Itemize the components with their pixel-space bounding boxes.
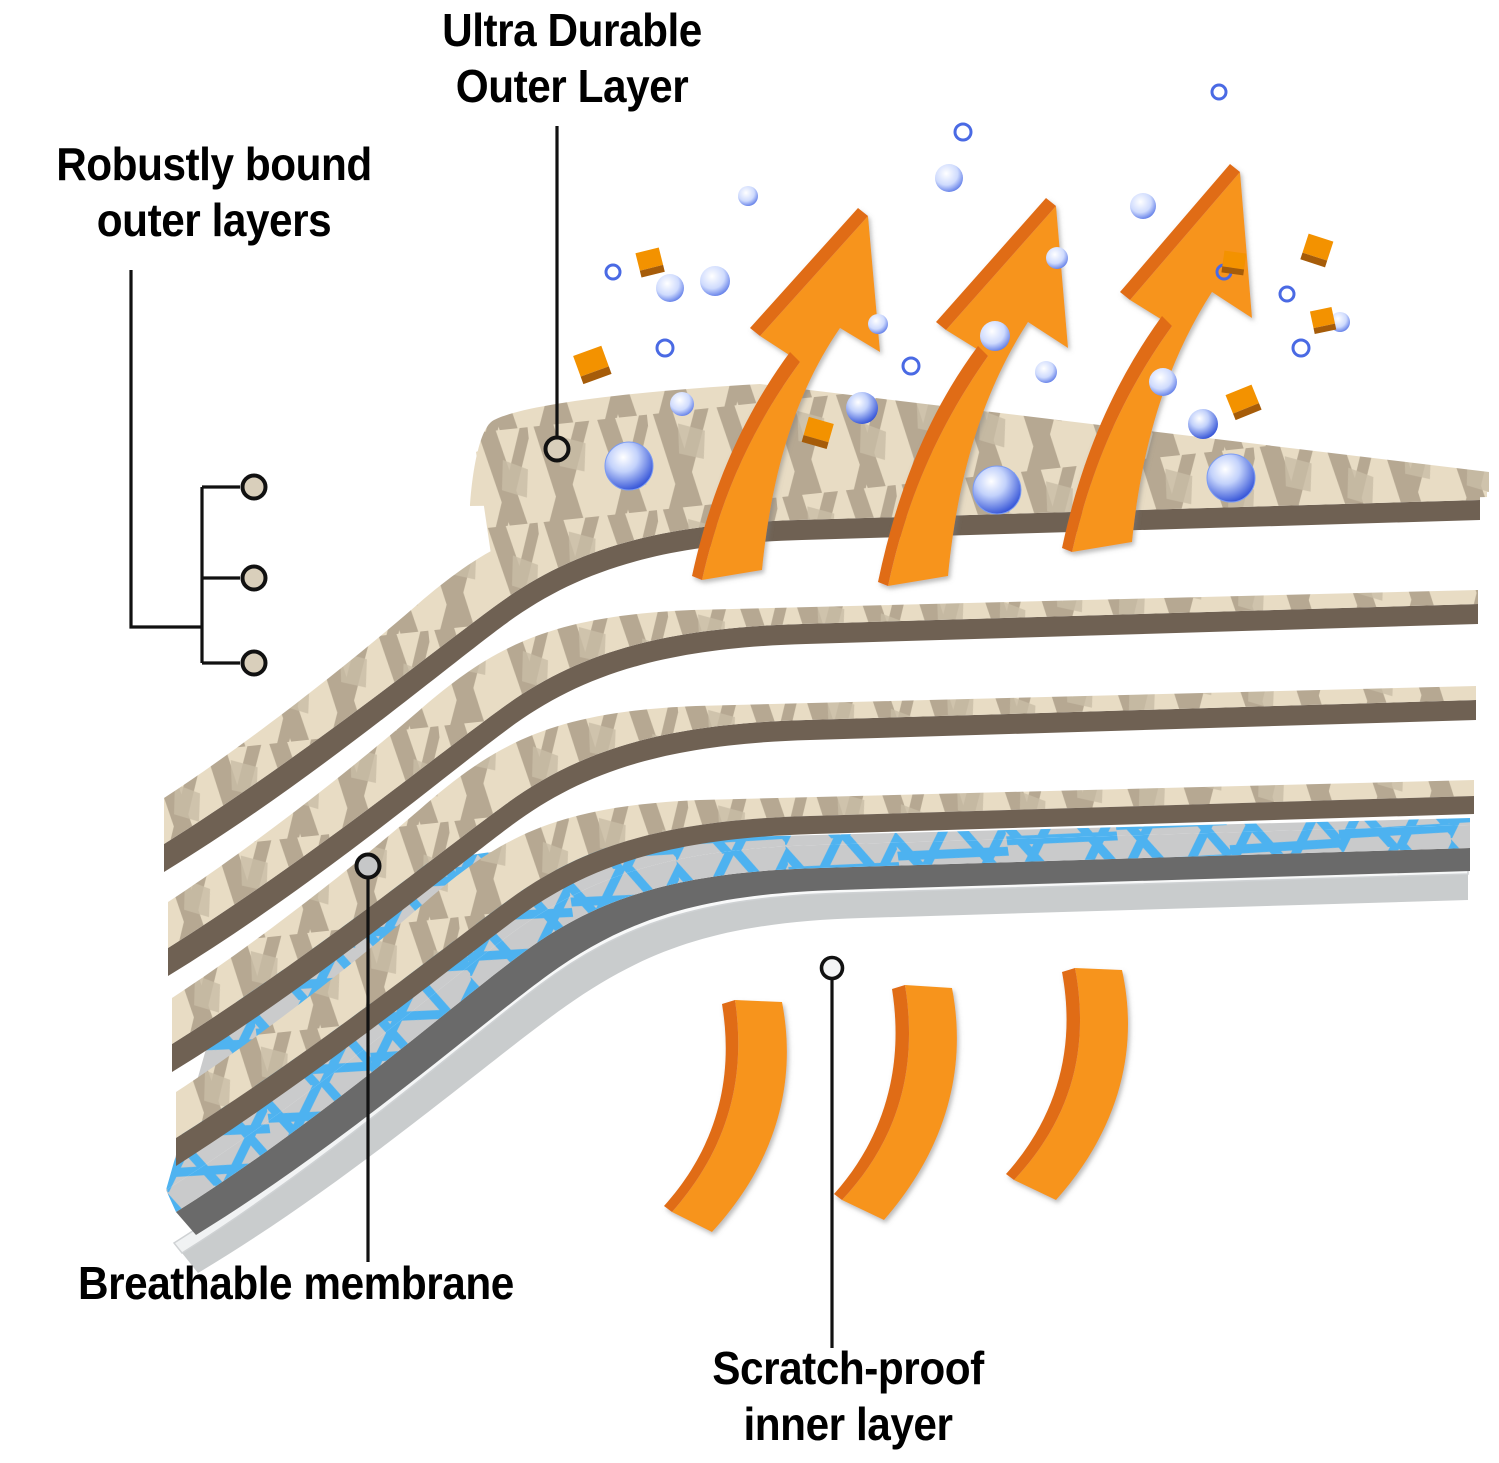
particle-cube	[1300, 234, 1333, 268]
bubble	[868, 314, 888, 334]
label-breathable-membrane: Breathable membrane	[78, 1255, 639, 1311]
bubble-outline	[1293, 340, 1309, 356]
bubble-large	[1207, 454, 1255, 502]
marker-scratch-proof	[822, 958, 843, 979]
bubble	[738, 186, 758, 206]
bubble-outline	[1212, 85, 1226, 99]
bubble-outline	[606, 265, 620, 279]
label-ultra-durable-outer-layer: Ultra Durable Outer Layer	[406, 2, 737, 114]
bubble	[670, 392, 694, 416]
diagram-canvas: Ultra Durable Outer Layer Robustly bound…	[0, 0, 1499, 1463]
bubble	[700, 266, 730, 296]
particle-cube	[573, 346, 611, 384]
bubble	[846, 392, 878, 424]
bubble-large	[605, 442, 653, 490]
bubble	[935, 164, 963, 192]
marker-breathable-membrane	[357, 855, 380, 878]
particle-cube	[1310, 307, 1336, 334]
particle-cube	[1226, 385, 1262, 421]
particle-cube	[1221, 251, 1246, 276]
bubble-outline	[903, 358, 919, 374]
bubble	[1035, 361, 1057, 383]
bubble	[1149, 368, 1177, 396]
marker-robustly-2	[243, 567, 266, 590]
bubble-outline	[1280, 287, 1294, 301]
bubble	[656, 274, 684, 302]
bubble-large	[973, 466, 1021, 514]
label-robustly-bound-outer-layers: Robustly bound outer layers	[21, 136, 407, 248]
bubble-outline	[657, 340, 673, 356]
bubble	[980, 321, 1010, 351]
marker-robustly-1	[243, 476, 266, 499]
bubble	[1188, 409, 1218, 439]
air-flow-arrows-down	[664, 968, 1128, 1232]
particle-cube	[635, 247, 664, 277]
label-scratch-proof-inner-layer: Scratch-proof inner layer	[664, 1340, 1032, 1452]
bubble	[1046, 247, 1068, 269]
marker-ultra-durable	[546, 438, 569, 461]
bubble	[1130, 193, 1156, 219]
marker-robustly-3	[243, 652, 266, 675]
bubble-outline	[955, 124, 971, 140]
